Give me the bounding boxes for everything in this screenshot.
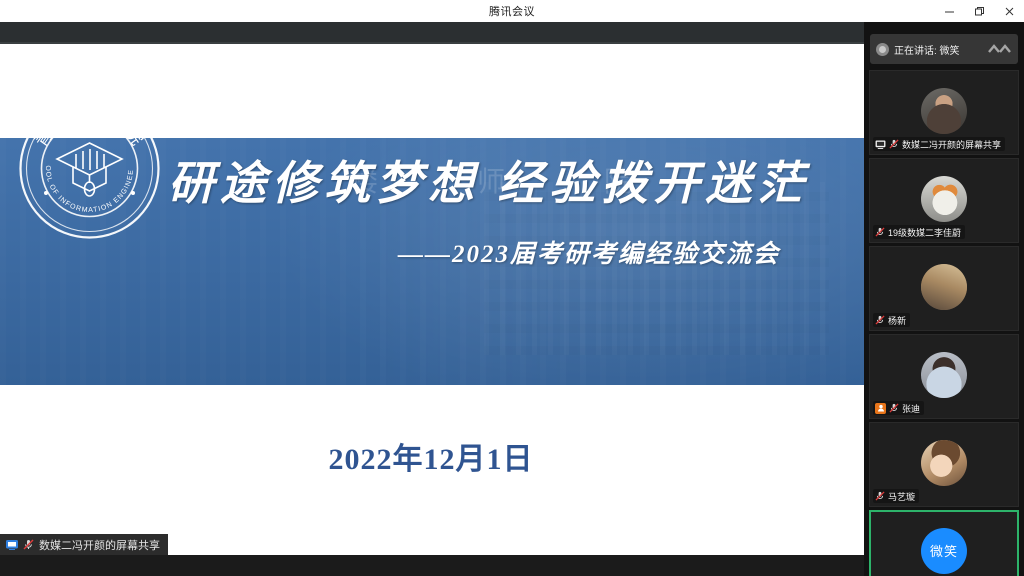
avatar: 微笑 — [921, 528, 967, 574]
speaker-avatar-icon — [876, 43, 889, 56]
avatar-image — [921, 440, 967, 486]
slide-date: 2022年12月1日 — [0, 434, 864, 478]
participant-tile[interactable]: 数媒二冯开颜的屏幕共享 — [869, 70, 1019, 155]
participant-name: 数媒二冯开颜的屏幕共享 — [902, 138, 1001, 151]
slide-subtitle: ——2023届考研考编经验交流会 — [398, 234, 780, 270]
tencent-meeting-window: 腾讯会议 楼 师 — [0, 0, 1024, 576]
mic-muted-icon — [23, 539, 34, 550]
participant-tile-self[interactable]: 微笑 微笑 — [869, 510, 1019, 576]
maximize-icon — [974, 6, 985, 17]
participant-tile[interactable]: 张迪 — [869, 334, 1019, 419]
participant-namebar: 杨新 — [873, 313, 910, 327]
avatar — [921, 176, 967, 222]
participant-tile[interactable]: 杨新 — [869, 246, 1019, 331]
avatar-image — [921, 352, 967, 398]
school-seal-logo: 青岛工程学院 SCHOOL OF INFORMATION ENGINEERING — [18, 97, 161, 240]
participant-tiles: 数媒二冯开颜的屏幕共享 19级数媒二李佳蔚 — [864, 30, 1024, 576]
mic-muted-icon — [889, 139, 899, 149]
screen-share-status-text: 数媒二冯开颜的屏幕共享 — [39, 537, 160, 553]
avatar — [921, 440, 967, 486]
close-button[interactable] — [994, 0, 1024, 22]
participant-tile[interactable]: 19级数媒二李佳蔚 — [869, 158, 1019, 243]
participant-name: 杨新 — [888, 314, 906, 327]
window-bottom-fill — [0, 555, 864, 576]
maximize-button[interactable] — [964, 0, 994, 22]
minimize-icon — [944, 6, 955, 17]
slide-main-title: 研途修筑梦想 经验拨开迷茫 — [168, 147, 858, 213]
mic-muted-icon — [875, 315, 885, 325]
participant-namebar: 张迪 — [873, 401, 924, 415]
avatar — [921, 88, 967, 134]
avatar — [921, 352, 967, 398]
participant-name: 19级数媒二李佳蔚 — [888, 226, 961, 239]
participant-namebar: 数媒二冯开颜的屏幕共享 — [873, 137, 1005, 151]
participant-namebar: 19级数媒二李佳蔚 — [873, 225, 965, 239]
screen-share-status-label: 数媒二冯开颜的屏幕共享 — [0, 534, 168, 555]
screen-share-icon — [875, 140, 886, 149]
screen-share-icon — [6, 540, 18, 550]
avatar-image — [921, 264, 967, 310]
participant-name: 马艺璇 — [888, 490, 915, 503]
presentation-slide: 楼 师 院 青岛工程学院 SCHOOL OF INFORMAT — [0, 44, 864, 555]
window-titlebar: 腾讯会议 — [0, 0, 1024, 22]
window-controls — [934, 0, 1024, 22]
toolbar-strip — [0, 22, 864, 44]
window-title: 腾讯会议 — [489, 3, 535, 19]
chevrons-collapse-icon[interactable] — [988, 43, 1012, 55]
avatar-initials: 微笑 — [930, 541, 958, 560]
active-speaker-banner: 正在讲话: 微笑 — [870, 34, 1018, 64]
avatar — [921, 264, 967, 310]
participant-name: 张迪 — [902, 402, 920, 415]
mic-muted-icon — [875, 227, 885, 237]
minimize-button[interactable] — [934, 0, 964, 22]
participant-namebar: 马艺璇 — [873, 489, 919, 503]
slide-date-text: 2022年12月1日 — [329, 434, 534, 478]
active-speaker-label: 正在讲话: 微笑 — [894, 42, 988, 57]
mic-muted-icon — [875, 491, 885, 501]
avatar-image — [921, 88, 967, 134]
participant-rail: 正在讲话: 微笑 — [864, 22, 1024, 576]
shared-screen-area[interactable]: 楼 师 院 青岛工程学院 SCHOOL OF INFORMAT — [0, 44, 864, 555]
participant-tile[interactable]: 马艺璇 — [869, 422, 1019, 507]
mic-muted-icon — [889, 403, 899, 413]
close-icon — [1004, 6, 1015, 17]
avatar-image — [921, 176, 967, 222]
host-badge-icon — [875, 403, 886, 414]
